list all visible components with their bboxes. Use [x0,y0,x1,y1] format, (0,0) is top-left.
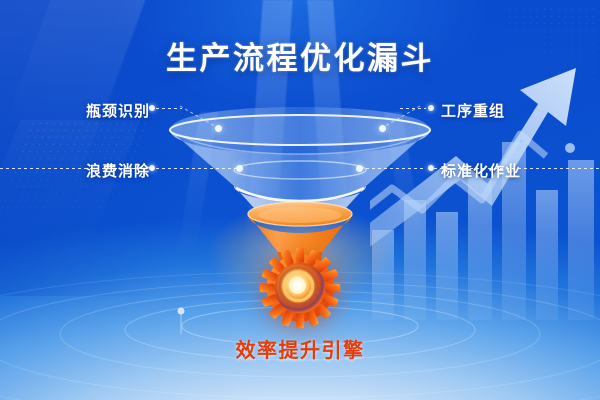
callout-label-left-1: 瓶颈识别 [86,100,150,121]
callout-label-left-2: 浪费消除 [86,160,150,181]
callout-label-right-2: 标准化作业 [441,160,521,181]
dot-node-icon [379,125,386,132]
callout-label-right-1: 工序重组 [441,100,505,121]
decorative-dot [565,143,575,153]
dot-node-icon [236,165,243,172]
gear-icon [258,246,342,330]
ground-pin-marker [176,306,186,336]
engine-caption: 效率提升引擎 [0,334,600,363]
dot-node-icon [356,165,363,172]
page-title: 生产流程优化漏斗 [0,33,600,78]
connector-line-right-1 [380,102,426,134]
dot-node-icon [215,125,222,132]
dot-node-icon [149,105,155,111]
infographic-canvas: 生产流程优化漏斗 [0,0,600,400]
dot-node-icon [428,105,434,111]
